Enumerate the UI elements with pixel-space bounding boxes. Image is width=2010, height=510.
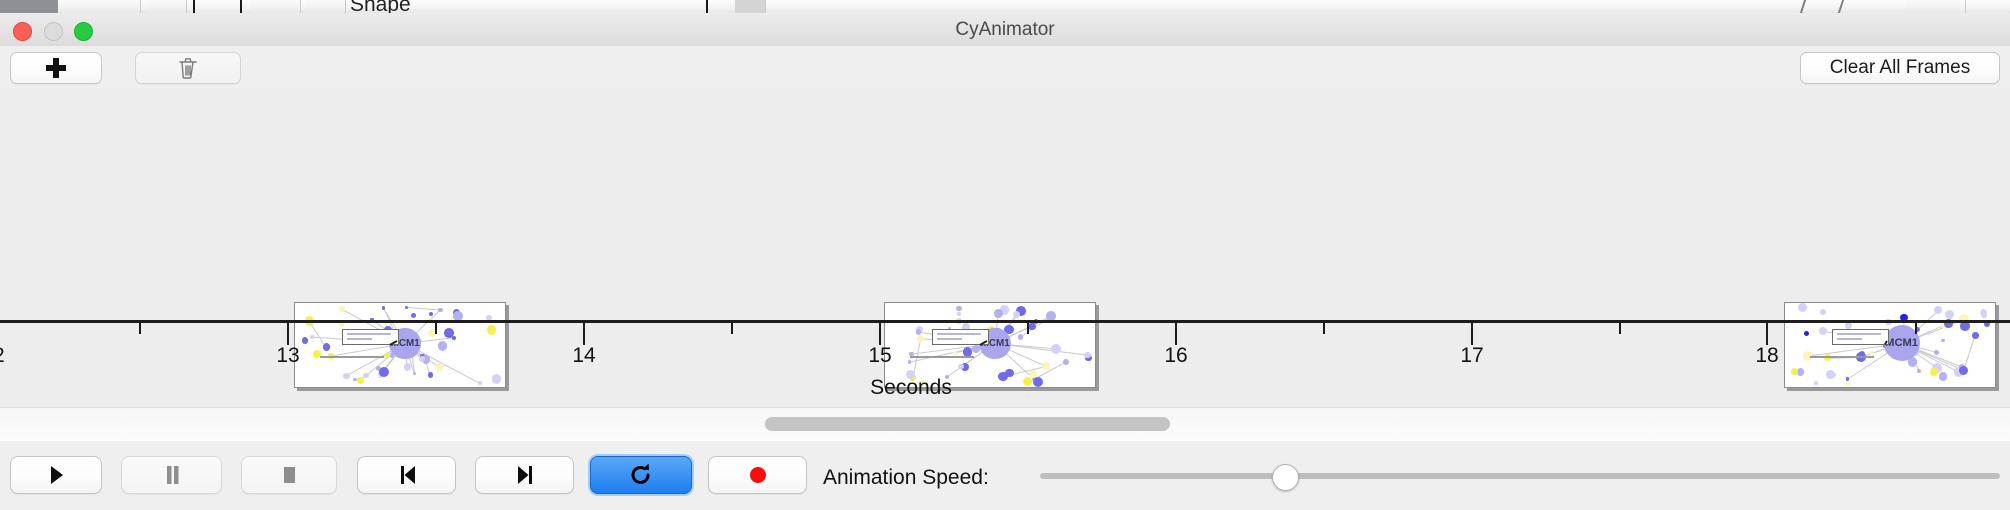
skip-to-end-button[interactable] [475, 456, 574, 494]
axis-tick-major [1766, 323, 1768, 345]
network-caption-line [910, 356, 974, 358]
network-node [917, 335, 924, 342]
background-slant [1838, 0, 1857, 13]
network-node [1934, 350, 1939, 355]
network-node [1917, 369, 1921, 373]
background-chunk [62, 0, 141, 13]
pause-button[interactable] [121, 456, 222, 494]
axis-tick-label: 13 [276, 344, 299, 368]
network-node [310, 335, 313, 338]
network-node [363, 373, 368, 378]
network-node [1005, 369, 1014, 378]
network-node [1930, 368, 1938, 376]
network-node [357, 377, 364, 384]
network-node [1814, 381, 1817, 384]
transport-bar: Animation Speed: [0, 441, 2010, 510]
network-node [994, 309, 1002, 317]
axis-tick-minor [139, 323, 141, 334]
network-node [436, 363, 445, 372]
background-slant [1800, 0, 1819, 13]
network-node [953, 351, 957, 355]
network-node [1820, 309, 1826, 315]
stop-button[interactable] [241, 456, 337, 494]
window-title: CyAnimator [0, 19, 2010, 41]
network-node [1798, 303, 1807, 312]
network-node [411, 313, 416, 318]
network-node [1804, 331, 1809, 336]
axis-tick-major [583, 323, 585, 345]
network-node [404, 363, 412, 371]
background-tick [240, 0, 242, 13]
network-node [1023, 377, 1032, 386]
axis-caption: Seconds [870, 376, 952, 400]
network-node [1018, 334, 1023, 339]
network-thumbnail: MCM1 [1785, 303, 1995, 387]
network-node [1981, 312, 1987, 318]
background-tick [193, 0, 195, 13]
timeline-frame[interactable]: MCM1 [1784, 302, 1996, 388]
cyanimator-window: Shape CyAnimator Clear All Frames MCM1MC… [0, 0, 2010, 510]
network-edge [407, 307, 441, 311]
background-dark-block [0, 0, 58, 13]
network-node [492, 374, 502, 384]
background-chunk [305, 0, 346, 13]
trash-icon [177, 56, 199, 80]
network-node [1051, 344, 1061, 354]
axis-tick-label: 14 [572, 344, 595, 368]
network-caption-line [1810, 356, 1874, 358]
network-node [1941, 339, 1945, 343]
network-node [1939, 372, 1947, 380]
axis-tick-major [287, 323, 289, 345]
skip-back-icon [392, 462, 422, 488]
axis-tick-minor [1915, 323, 1917, 334]
skip-forward-icon [510, 462, 540, 488]
network-node [1063, 359, 1069, 365]
play-button[interactable] [10, 456, 102, 494]
network-node [339, 306, 345, 312]
network-node [353, 378, 357, 382]
loop-button[interactable] [590, 456, 692, 494]
annotation-text-line [937, 338, 962, 340]
network-node [384, 354, 388, 358]
network-node [1945, 310, 1954, 319]
network-node [429, 312, 433, 316]
network-node [382, 306, 385, 309]
network-node [478, 381, 482, 385]
network-thumbnail: MCM1 [295, 303, 505, 387]
axis-tick-label: 17 [1460, 344, 1483, 368]
axis-tick-major [879, 323, 881, 345]
network-node [1870, 351, 1874, 355]
network-thumbnail: MCM1 [885, 303, 1095, 387]
play-icon [41, 462, 71, 488]
annotation-text-line [1837, 333, 1881, 335]
network-node [1042, 362, 1050, 370]
frame-track[interactable]: MCM1MCM1MCM1 [0, 88, 2010, 320]
record-icon [743, 462, 773, 488]
network-node [428, 372, 434, 378]
annotation-text-line [347, 338, 372, 340]
network-node [956, 306, 962, 312]
network-node [1033, 377, 1043, 387]
axis-tick-label: 16 [1164, 344, 1187, 368]
network-node [323, 343, 330, 350]
plus-icon [46, 58, 66, 78]
axis-tick-minor [1027, 323, 1029, 334]
network-caption-line [320, 356, 384, 358]
background-chunk [1905, 0, 1966, 13]
annotation-text-line [1837, 338, 1862, 340]
network-node [343, 373, 349, 379]
network-annotation-box [1832, 329, 1889, 346]
axis-tick-minor [1619, 323, 1621, 334]
record-button[interactable] [708, 456, 807, 494]
timeline-scrollbar[interactable] [0, 407, 2010, 442]
network-node [438, 341, 447, 350]
background-window-label: Shape [350, 0, 411, 13]
background-chunk [735, 0, 766, 13]
add-frame-button[interactable] [10, 52, 102, 84]
pause-icon [157, 462, 187, 488]
axis-tick-minor [731, 323, 733, 334]
network-node [438, 308, 442, 312]
network-node [1826, 370, 1835, 379]
timeline-scrollbar-thumb[interactable] [765, 417, 1170, 431]
axis-tick-label: 18 [1755, 344, 1778, 368]
timeline-axis [0, 320, 2010, 323]
background-chunk [250, 0, 301, 13]
annotation-text-line [937, 333, 981, 335]
axis-tick-major [1471, 323, 1473, 345]
network-node [957, 312, 961, 316]
axis-tick-minor [1323, 323, 1325, 334]
clear-all-frames-button[interactable]: Clear All Frames [1800, 52, 2000, 84]
delete-frame-button[interactable] [135, 52, 241, 84]
network-node [1028, 323, 1036, 331]
loop-icon [626, 462, 656, 488]
network-node [379, 367, 389, 377]
network-node [302, 337, 308, 343]
annotation-text-line [347, 333, 391, 335]
background-chunk [148, 0, 187, 13]
animation-speed-label: Animation Speed: [823, 466, 989, 490]
network-node [1927, 331, 1931, 335]
network-node [405, 306, 409, 310]
timeline-frame[interactable]: MCM1 [294, 302, 506, 388]
network-node [1846, 381, 1850, 385]
network-node [1934, 306, 1942, 314]
axis-tick-minor [435, 323, 437, 334]
network-node [452, 336, 456, 340]
animation-speed-slider-thumb[interactable] [1272, 464, 1299, 491]
network-node [1959, 366, 1968, 375]
network-node [1013, 311, 1020, 318]
background-window-strip: Shape [0, 0, 2010, 13]
stop-icon [274, 462, 304, 488]
network-node [908, 360, 912, 364]
network-node [1819, 327, 1827, 335]
network-node [916, 329, 921, 334]
background-tick [706, 0, 708, 13]
network-node [413, 372, 417, 376]
axis-tick-major [1175, 323, 1177, 345]
frame-toolbar: Clear All Frames [0, 46, 2010, 89]
skip-to-start-button[interactable] [357, 456, 456, 494]
animation-speed-slider-track[interactable] [1040, 473, 2000, 479]
axis-tick-label: 15 [868, 344, 891, 368]
axis-tick-label: 12 [0, 344, 5, 368]
network-node [487, 325, 497, 335]
timeline-panel[interactable]: MCM1MCM1MCM1 12131415161718 Seconds [0, 88, 2010, 407]
title-bar: CyAnimator [0, 13, 2010, 47]
network-node [1972, 332, 1978, 338]
